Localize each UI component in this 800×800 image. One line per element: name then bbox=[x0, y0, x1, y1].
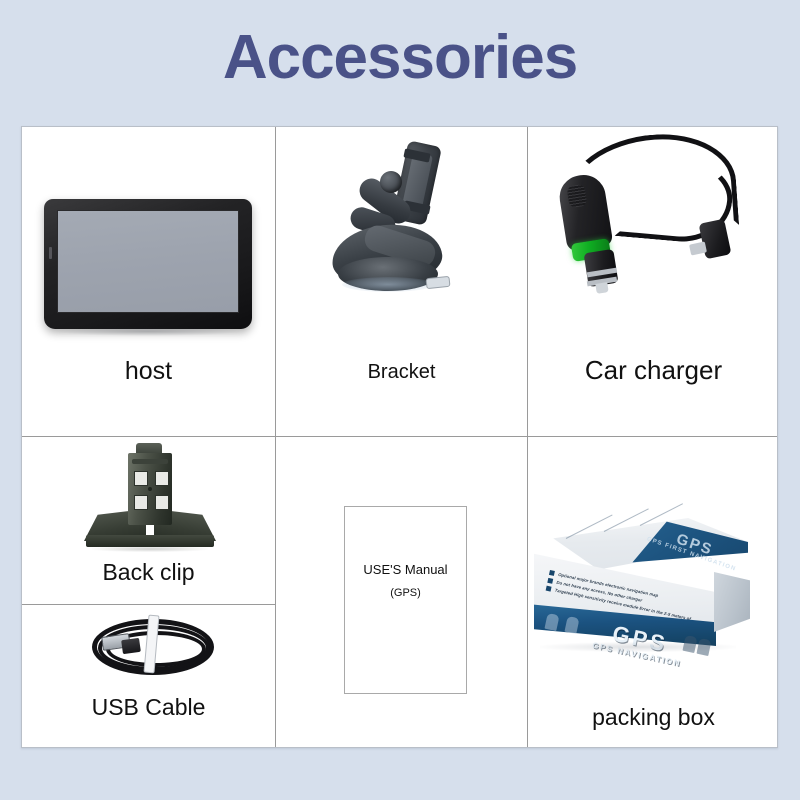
manual-title: USE'S Manual bbox=[345, 562, 466, 577]
back-clip-bracket-icon bbox=[84, 443, 216, 551]
usb-cable-coil-icon bbox=[84, 613, 220, 679]
suction-cup-mount-icon bbox=[328, 137, 476, 317]
accessory-label-bracket: Bracket bbox=[276, 361, 527, 384]
accessory-cell-host[interactable]: host bbox=[22, 127, 275, 436]
accessory-label-car-charger: Car charger bbox=[528, 355, 779, 386]
accessory-cell-car-charger[interactable]: Car charger bbox=[528, 127, 779, 436]
accessory-cell-back-clip[interactable]: Back clip bbox=[22, 437, 275, 604]
accessory-cell-usb-cable[interactable]: USB Cable bbox=[22, 605, 275, 749]
page-title: Accessories bbox=[0, 24, 800, 92]
manual-subtitle: (GPS) bbox=[345, 587, 466, 599]
accessory-label-back-clip: Back clip bbox=[22, 559, 275, 586]
car-charger-icon bbox=[556, 133, 752, 293]
packing-box-icon: GPS GPS FIRST NAVIGATION Optional major … bbox=[528, 518, 752, 652]
accessory-label-host: host bbox=[22, 357, 275, 386]
bullet-square-icon bbox=[546, 586, 552, 592]
gps-navigator-device-icon bbox=[44, 199, 252, 329]
accessory-cell-bracket[interactable]: Bracket bbox=[276, 127, 527, 436]
accessory-label-packing-box: packing box bbox=[528, 704, 779, 731]
bullet-square-icon bbox=[547, 578, 553, 584]
user-manual-icon: USE'S Manual (GPS) bbox=[344, 506, 467, 694]
accessory-label-usb-cable: USB Cable bbox=[22, 694, 275, 721]
bullet-square-icon bbox=[549, 570, 555, 576]
